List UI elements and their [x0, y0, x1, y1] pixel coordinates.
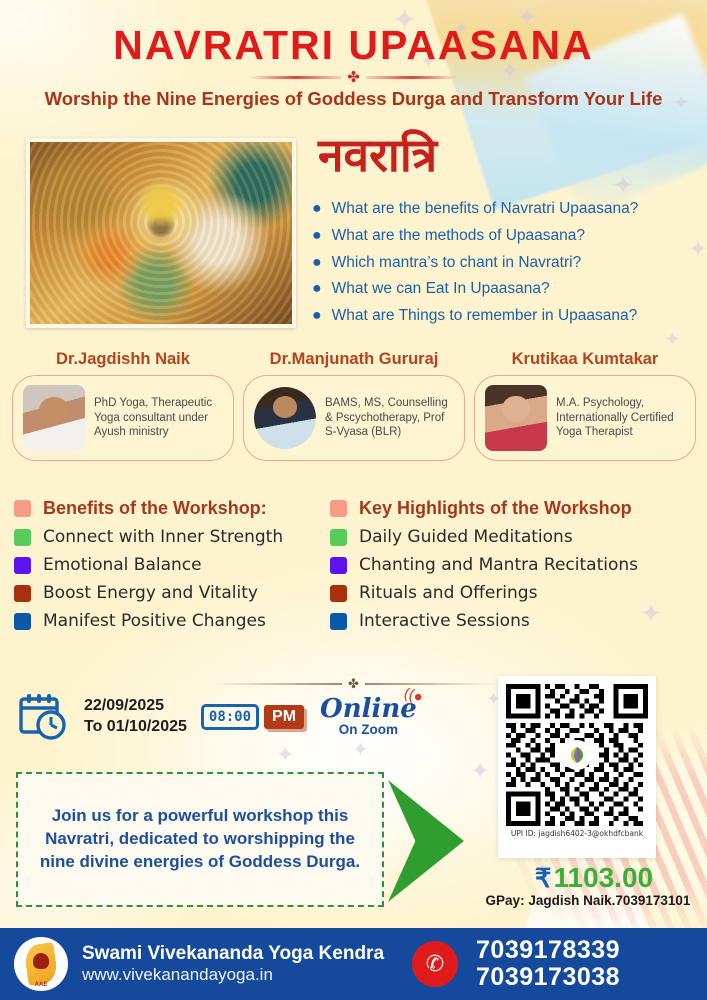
color-swatch-icon	[14, 557, 31, 574]
star-icon: ✦	[352, 740, 369, 760]
list-item: Interactive Sessions	[330, 611, 707, 631]
speaker-credentials: M.A. Psychology, Internationally Certifi…	[556, 396, 685, 440]
navratri-devanagari-title: नवरात्रि	[318, 130, 437, 181]
platform-label: On Zoom	[320, 722, 417, 737]
calendar-clock-icon	[18, 692, 70, 742]
benefit-text: Manifest Positive Changes	[43, 611, 266, 631]
speaker-credentials: BAMS, MS, Counselling & Pscychotherapy, …	[325, 396, 454, 440]
speaker-card-3: Krutikaa Kumtakar M.A. Psychology, Inter…	[474, 350, 696, 461]
poster-canvas: ✦ ✦ ✦ ✦ ✦ ✦ ✦ ✦ ✦ ✦ ✦ ✦ ✦ ✦ NAVRATRI UPA…	[0, 0, 707, 1000]
question-text: What are the benefits of Navratri Upaasa…	[332, 200, 639, 218]
color-swatch-icon	[330, 585, 347, 602]
speaker-credentials: PhD Yoga, Therapeutic Yoga consultant un…	[94, 396, 223, 440]
highlight-text: Daily Guided Meditations	[359, 527, 573, 547]
star-icon: ✦	[470, 760, 490, 784]
phone-number-1[interactable]: 7039178339	[476, 937, 620, 964]
highlight-text: Interactive Sessions	[359, 611, 530, 631]
contact-numbers: 7039178339 7039173038	[476, 937, 620, 991]
list-item: ● What are Things to remember in Upaasan…	[312, 307, 702, 325]
speaker-avatar	[254, 387, 316, 449]
color-swatch-icon	[14, 585, 31, 602]
benefits-heading: Benefits of the Workshop:	[43, 498, 267, 519]
speakers-section: Dr.Jagdishh Naik PhD Yoga, Therapeutic Y…	[0, 350, 707, 495]
benefit-text: Emotional Balance	[43, 555, 202, 575]
speaker-avatar	[23, 385, 85, 451]
highlight-text: Rituals and Offerings	[359, 583, 537, 603]
page-subtitle: Worship the Nine Energies of Goddess Dur…	[0, 88, 707, 110]
list-item: Manifest Positive Changes	[14, 611, 344, 631]
list-item: Emotional Balance	[14, 555, 344, 575]
rupee-icon: ₹	[535, 863, 552, 893]
color-swatch-icon	[330, 529, 347, 546]
arrow-right-icon	[388, 780, 464, 902]
benefit-text: Connect with Inner Strength	[43, 527, 283, 547]
list-item: ● What are the benefits of Navratri Upaa…	[312, 200, 702, 218]
star-icon: ✦	[276, 744, 294, 766]
header-divider: ✤	[0, 66, 707, 88]
question-list: ● What are the benefits of Navratri Upaa…	[312, 200, 702, 334]
list-item: ● Which mantra’s to chant in Navratri?	[312, 254, 702, 272]
color-swatch-icon	[330, 500, 347, 517]
highlights-heading-row: Key Highlights of the Workshop	[330, 498, 707, 519]
list-item: ● What we can Eat In Upaasana?	[312, 280, 702, 298]
speaker-name: Krutikaa Kumtakar	[474, 350, 696, 369]
list-item: ● What are the methods of Upaasana?	[312, 227, 702, 245]
highlight-text: Chanting and Mantra Recitations	[359, 555, 638, 575]
amount-value: 1103.00	[553, 862, 653, 893]
question-text: Which mantra’s to chant in Navratri?	[332, 254, 582, 272]
time-block: 08:00 PM	[201, 704, 304, 730]
gpay-logo-icon	[562, 740, 592, 770]
question-text: What we can Eat In Upaasana?	[332, 280, 550, 298]
highlights-heading: Key Highlights of the Workshop	[359, 498, 632, 519]
time-value: 08:00	[201, 704, 259, 730]
ornament-icon: ✤	[348, 676, 359, 692]
speaker-avatar	[485, 385, 547, 451]
bullet-icon: ●	[312, 200, 322, 218]
color-swatch-icon	[14, 500, 31, 517]
page-title: NAVRATRI UPAASANA	[0, 22, 707, 69]
list-item: Rituals and Offerings	[330, 583, 707, 603]
speaker-card-2: Dr.Manjunath Gururaj BAMS, MS, Counselli…	[243, 350, 465, 461]
speaker-card-1: Dr.Jagdishh Naik PhD Yoga, Therapeutic Y…	[12, 350, 234, 461]
organization-block: Swami Vivekananda Yoga Kendra www.viveka…	[82, 943, 384, 985]
divider-line-right	[366, 76, 458, 79]
bullet-icon: ●	[312, 254, 322, 272]
qr-code-image[interactable]	[506, 684, 648, 826]
meridiem-badge: PM	[264, 705, 304, 729]
cta-box: Join us for a powerful workshop this Nav…	[16, 772, 384, 907]
speaker-name: Dr.Manjunath Gururaj	[243, 350, 465, 369]
bullet-icon: ●	[312, 280, 322, 298]
question-text: What are the methods of Upaasana?	[332, 227, 585, 245]
color-swatch-icon	[14, 529, 31, 546]
divider-line-left	[249, 76, 341, 79]
upi-id-label: UPI ID: jagdish6402-3@okhdfcbank	[506, 829, 648, 838]
website-link[interactable]: www.vivekanandayoga.in	[82, 965, 384, 985]
organization-name: Swami Vivekananda Yoga Kendra	[82, 943, 384, 965]
gpay-details: GPay: Jagdish Naik.7039173101	[474, 893, 702, 908]
date-end: To 01/10/2025	[84, 717, 187, 738]
schedule-bar: 22/09/2025 To 01/10/2025 08:00 PM ((● On…	[18, 692, 417, 742]
list-item: Daily Guided Meditations	[330, 527, 707, 547]
highlights-column: Key Highlights of the Workshop Daily Gui…	[330, 498, 707, 639]
ornament-icon: ✤	[347, 70, 360, 85]
list-item: Chanting and Mantra Recitations	[330, 555, 707, 575]
organization-logo-icon: AAE	[14, 937, 68, 991]
date-range: 22/09/2025 To 01/10/2025	[84, 696, 187, 738]
list-item: Boost Energy and Vitality	[14, 583, 344, 603]
color-swatch-icon	[330, 613, 347, 630]
footer-bar: AAE Swami Vivekananda Yoga Kendra www.vi…	[0, 928, 707, 1000]
benefit-text: Boost Energy and Vitality	[43, 583, 258, 603]
date-start: 22/09/2025	[84, 696, 187, 717]
cta-text: Join us for a powerful workshop this Nav…	[32, 805, 368, 873]
benefits-heading-row: Benefits of the Workshop:	[14, 498, 344, 519]
phone-number-2[interactable]: 7039173038	[476, 964, 620, 991]
speaker-name: Dr.Jagdishh Naik	[12, 350, 234, 369]
price-amount: ₹1103.00	[494, 862, 694, 894]
list-item: Connect with Inner Strength	[14, 527, 344, 547]
phone-icon: ✆	[412, 941, 458, 987]
question-text: What are Things to remember in Upaasana?	[332, 307, 638, 325]
online-block: ((● Online On Zoom	[320, 697, 417, 738]
bullet-icon: ●	[312, 227, 322, 245]
star-icon: ✦	[612, 172, 634, 198]
qr-payment-card[interactable]: UPI ID: jagdish6402-3@okhdfcbank	[498, 676, 656, 858]
bullet-icon: ●	[312, 307, 322, 325]
durga-photo	[26, 138, 296, 328]
color-swatch-icon	[14, 613, 31, 630]
benefits-column: Benefits of the Workshop: Connect with I…	[14, 498, 344, 639]
color-swatch-icon	[330, 557, 347, 574]
